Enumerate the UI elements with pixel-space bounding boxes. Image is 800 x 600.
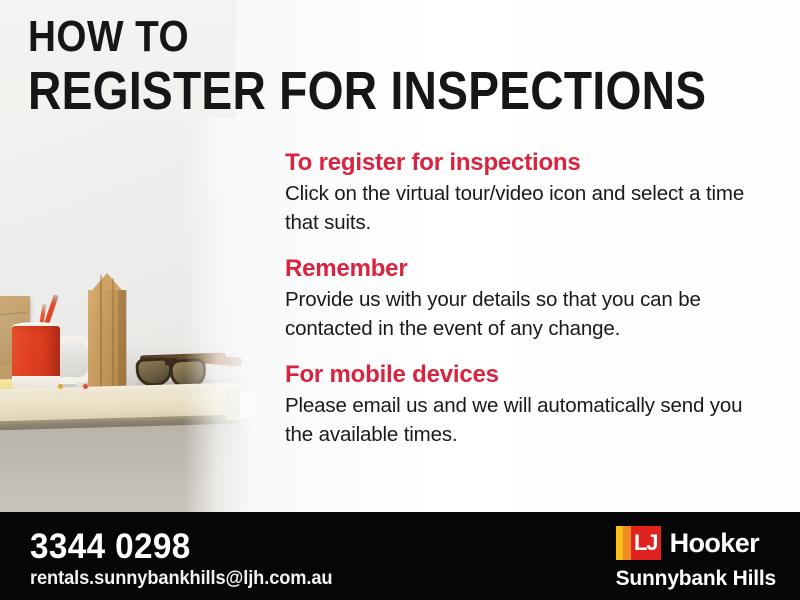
brand-bar-red: LJ [631, 526, 661, 560]
instruction-section-register: To register for inspections Click on the… [285, 148, 765, 237]
brand-monogram: LJ [634, 532, 657, 554]
page-title: HOW TO REGISTER FOR INSPECTIONS [28, 14, 800, 119]
section-body-register: Click on the virtual tour/video icon and… [285, 179, 765, 237]
wooden-house-grain-2 [112, 278, 114, 388]
shelf-trinket-2 [76, 382, 82, 388]
photo-fade-overlay [184, 118, 258, 512]
brand-bar-yellow [616, 526, 623, 560]
page-title-line-1: HOW TO [28, 14, 726, 60]
section-body-mobile: Please email us and we will automaticall… [285, 391, 765, 449]
poster-canvas: HOW TO REGISTER FOR INSPECTIONS To regis… [0, 0, 800, 600]
lj-hooker-mark-icon: LJ [616, 526, 661, 560]
shelf-photo [0, 118, 258, 512]
brand-office-name: Sunnybank Hills [616, 567, 776, 591]
email-address[interactable]: rentals.sunnybankhills@ljh.com.au [30, 567, 332, 590]
wooden-house-shading [118, 290, 127, 388]
section-body-remember: Provide us with your details so that you… [285, 285, 765, 343]
section-heading-mobile: For mobile devices [285, 360, 765, 390]
footer-bar: 3344 0298 rentals.sunnybankhills@ljh.com… [0, 512, 800, 600]
shelf-trinket-3 [83, 384, 88, 389]
instruction-section-remember: Remember Provide us with your details so… [285, 254, 765, 343]
brand-bar-orange [623, 526, 631, 560]
instruction-section-mobile: For mobile devices Please email us and w… [285, 360, 765, 449]
instructions-block: To register for inspections Click on the… [285, 148, 765, 449]
shelf-trinket-1 [58, 384, 63, 389]
brand-logo-row: LJ Hooker [616, 526, 776, 560]
contact-details: 3344 0298 rentals.sunnybankhills@ljh.com… [30, 528, 345, 590]
brand-name: Hooker [670, 529, 759, 558]
brand-logo: LJ Hooker Sunnybank Hills [616, 526, 776, 591]
phone-number[interactable]: 3344 0298 [30, 528, 329, 566]
wooden-house-grain-1 [100, 275, 102, 388]
section-heading-register: To register for inspections [285, 148, 765, 178]
page-title-line-2: REGISTER FOR INSPECTIONS [28, 63, 706, 119]
section-heading-remember: Remember [285, 254, 765, 284]
